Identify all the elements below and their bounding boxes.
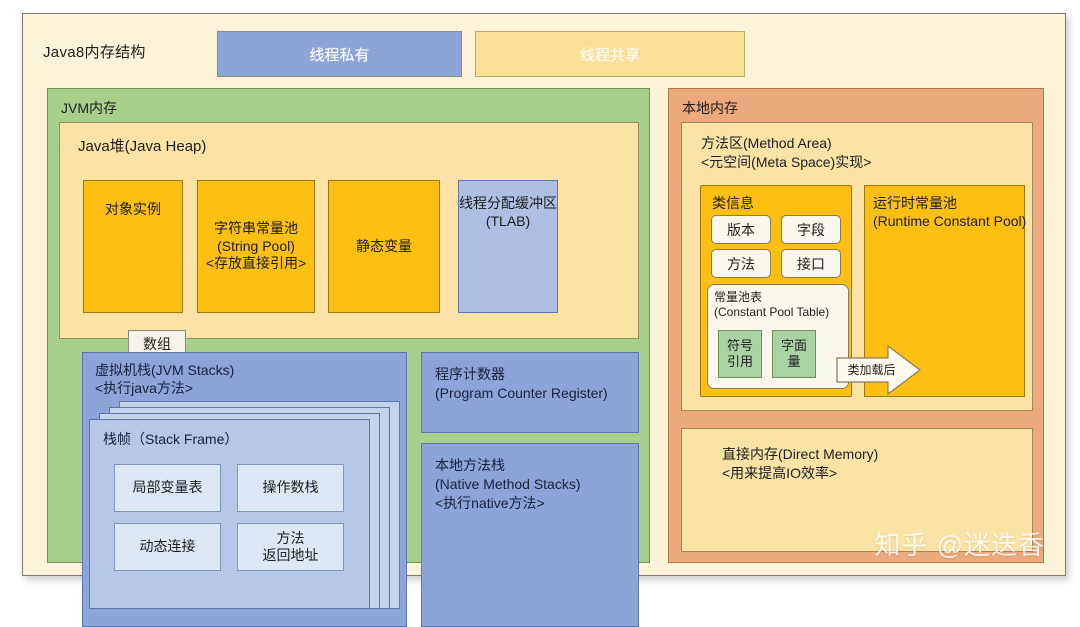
direct-memory-label: 直接内存(Direct Memory)<用来提高IO效率> [722, 445, 878, 483]
java-heap-title: Java堆(Java Heap) [78, 135, 206, 156]
program-counter-box: 程序计数器(Program Counter Register) [421, 352, 639, 433]
tlab-box: 线程分配缓冲区(TLAB) [458, 180, 558, 313]
class-info-title: 类信息 [712, 193, 754, 213]
legend-thread-shared-label: 线程共享 [580, 44, 640, 65]
literal-chip: 字面量 [772, 330, 816, 378]
class-load-arrow: 类加载后 [836, 344, 921, 396]
method-return-address-chip: 方法返回地址 [237, 523, 344, 571]
local-variable-table-chip: 局部变量表 [114, 464, 221, 512]
object-instance-box: 对象实例 数组 [83, 180, 183, 313]
class-interface-chip: 接口 [781, 249, 841, 278]
symbolic-reference-chip: 符号引用 [718, 330, 762, 378]
region-jvm-memory: JVM内存 Java堆(Java Heap) 对象实例 数组 字符串常量池(St… [47, 88, 650, 563]
region-native-memory: 本地内存 方法区(Method Area)<元空间(Meta Space)实现>… [668, 88, 1044, 563]
diagram-outer-frame: Java8内存结构 线程私有 线程共享 JVM内存 Java堆(Java Hea… [22, 13, 1066, 576]
page-title: Java8内存结构 [43, 41, 146, 62]
class-info-box: 类信息 版本 字段 方法 接口 常量池表(Constant Pool Table… [700, 185, 852, 397]
stack-frame-title: 栈帧（Stack Frame） [103, 429, 238, 449]
region-jvm-memory-label: JVM内存 [61, 98, 117, 118]
class-load-arrow-label: 类加载后 [844, 361, 899, 378]
method-area-title: 方法区(Method Area)<元空间(Meta Space)实现> [701, 134, 871, 172]
legend-thread-private: 线程私有 [217, 31, 462, 77]
constant-pool-table-box: 常量池表(Constant Pool Table) 符号引用 字面量 [707, 284, 849, 389]
class-method-chip: 方法 [711, 249, 771, 278]
jvm-stacks-title: 虚拟机栈(JVM Stacks)<执行java方法> [95, 361, 234, 397]
operand-stack-chip: 操作数栈 [237, 464, 344, 512]
constant-pool-table-title: 常量池表(Constant Pool Table) [714, 290, 829, 320]
dynamic-linking-chip: 动态连接 [114, 523, 221, 571]
stack-frame-card: 栈帧（Stack Frame） 局部变量表 操作数栈 动态连接 方法返回地址 [89, 419, 370, 609]
class-field-chip: 字段 [781, 215, 841, 244]
class-version-chip: 版本 [711, 215, 771, 244]
static-variable-box: 静态变量 [328, 180, 440, 313]
region-native-memory-label: 本地内存 [682, 98, 738, 118]
java-heap-box: Java堆(Java Heap) 对象实例 数组 字符串常量池(String P… [59, 122, 639, 339]
watermark: 知乎 @迷迭香 [874, 525, 1045, 562]
legend-thread-private-label: 线程私有 [309, 44, 369, 65]
jvm-stacks-box: 虚拟机栈(JVM Stacks)<执行java方法> 栈帧（Stack Fram… [82, 352, 407, 627]
native-method-stacks-label: 本地方法栈(Native Method Stacks)<执行native方法> [435, 456, 581, 512]
runtime-constant-pool-label: 运行时常量池(Runtime Constant Pool) [873, 194, 1026, 230]
diagram-canvas: Java8内存结构 线程私有 线程共享 JVM内存 Java堆(Java Hea… [0, 0, 1080, 627]
program-counter-label: 程序计数器(Program Counter Register) [435, 365, 608, 403]
string-pool-box: 字符串常量池(String Pool)<存放直接引用> [197, 180, 315, 313]
legend-thread-shared: 线程共享 [475, 31, 745, 77]
object-instance-label: 对象实例 [105, 201, 161, 219]
native-method-stacks-box: 本地方法栈(Native Method Stacks)<执行native方法> [421, 443, 639, 627]
